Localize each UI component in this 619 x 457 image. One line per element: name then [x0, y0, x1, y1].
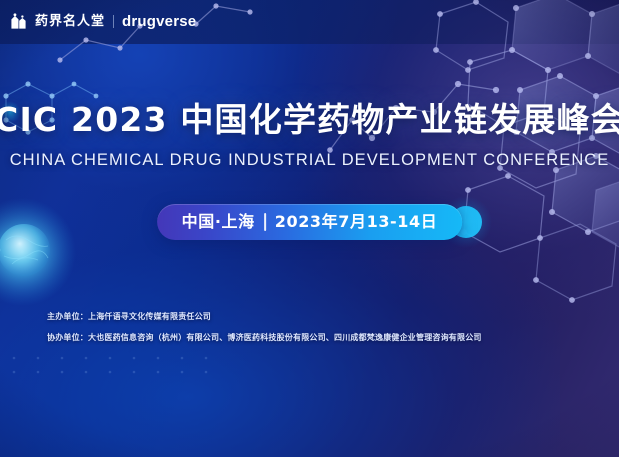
logo-chinese-name: 药界名人堂 — [35, 15, 105, 28]
people-gate-logo-icon — [10, 13, 27, 30]
brand-logo: 药界名人堂 drugverse — [10, 13, 196, 30]
host-organizer-line: 主办单位：上海仟语寻文化传媒有限责任公司 — [47, 313, 211, 321]
page-subtitle: CHINA CHEMICAL DRUG INDUSTRIAL DEVELOPME… — [10, 152, 610, 169]
coorganizer-line: 协办单位：大也医药信息咨询（杭州）有限公司、博济医药科技股份有限公司、四川成都梵… — [47, 334, 482, 342]
badge-date: 2023年7月13-14日 — [275, 214, 438, 230]
badge-location: 中国·上海 — [182, 214, 255, 230]
page-title: CIC 2023 中国化学药物产业链发展峰会 — [0, 103, 619, 136]
logo-english-name: drugverse — [122, 14, 196, 29]
badge-divider — [264, 213, 266, 231]
conference-poster: 药界名人堂 drugverse CIC 2023 中国化学药物产业链发展峰会 C… — [0, 0, 619, 457]
location-date-badge: 中国·上海 2023年7月13-14日 — [157, 204, 463, 240]
logo-divider — [113, 15, 114, 28]
